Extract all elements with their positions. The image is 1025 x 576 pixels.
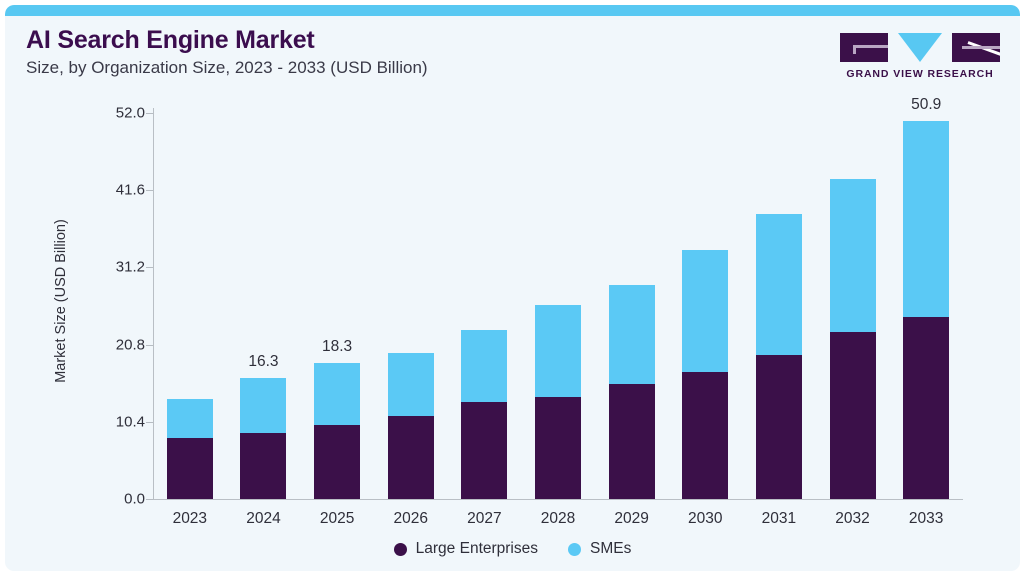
bar-segment-large-enterprises[interactable] (461, 402, 507, 499)
x-axis-tick-label: 2026 (393, 510, 427, 528)
legend-swatch-icon (394, 543, 407, 556)
legend-item[interactable]: Large Enterprises (394, 540, 538, 558)
bar-segment-smes[interactable] (388, 353, 434, 416)
bar-group[interactable] (388, 353, 434, 499)
y-axis-tick-mark (146, 422, 153, 423)
bar-group[interactable] (609, 285, 655, 499)
bar-segment-large-enterprises[interactable] (682, 372, 728, 499)
bar-group[interactable] (756, 214, 802, 499)
bar-segment-large-enterprises[interactable] (314, 425, 360, 499)
bar-segment-smes[interactable] (830, 179, 876, 332)
legend-item[interactable]: SMEs (568, 540, 631, 558)
x-axis-tick-label: 2028 (541, 510, 575, 528)
bars-container: 202316.3202418.3202520262027202820292030… (153, 5, 963, 571)
bar-segment-large-enterprises[interactable] (903, 317, 949, 499)
bar-group[interactable] (461, 330, 507, 499)
bar-segment-smes[interactable] (314, 363, 360, 425)
bar-group[interactable] (682, 250, 728, 499)
x-axis-tick-label: 2032 (835, 510, 869, 528)
x-axis-tick-label: 2024 (246, 510, 280, 528)
bar-segment-large-enterprises[interactable] (756, 355, 802, 499)
bar-group[interactable]: 16.3 (240, 378, 286, 499)
y-axis-tick-mark (146, 267, 153, 268)
bar-segment-smes[interactable] (682, 250, 728, 372)
plot-area: Market Size (USD Billion) 0.010.420.831.… (5, 5, 1020, 571)
y-axis-ticks: 0.010.420.831.241.652.0 (73, 5, 145, 571)
bar-group[interactable] (535, 305, 581, 499)
bar-segment-large-enterprises[interactable] (388, 416, 434, 499)
bar-segment-smes[interactable] (609, 285, 655, 384)
chart-legend: Large EnterprisesSMEs (5, 540, 1020, 558)
y-axis-tick-label: 31.2 (116, 259, 145, 276)
bar-segment-smes[interactable] (535, 305, 581, 396)
legend-label: SMEs (590, 540, 631, 558)
y-axis-tick-mark (146, 345, 153, 346)
y-axis-tick-mark (146, 190, 153, 191)
y-axis-tick-label: 0.0 (124, 491, 145, 508)
y-axis-tick-label: 10.4 (116, 413, 145, 430)
y-axis-tick-mark (146, 499, 153, 500)
x-axis-tick-label: 2027 (467, 510, 501, 528)
bar-group[interactable] (830, 179, 876, 499)
x-axis-tick-label: 2023 (173, 510, 207, 528)
bar-segment-large-enterprises[interactable] (535, 397, 581, 499)
bar-segment-smes[interactable] (903, 121, 949, 317)
y-axis-tick-label: 52.0 (116, 105, 145, 122)
x-axis-tick-label: 2030 (688, 510, 722, 528)
x-axis-tick-label: 2031 (762, 510, 796, 528)
bar-segment-large-enterprises[interactable] (167, 438, 213, 499)
bar-segment-smes[interactable] (167, 399, 213, 438)
legend-swatch-icon (568, 543, 581, 556)
bar-group[interactable]: 50.9 (903, 121, 949, 499)
y-axis-tick-label: 41.6 (116, 182, 145, 199)
bar-segment-smes[interactable] (240, 378, 286, 433)
bar-value-label: 18.3 (322, 338, 352, 356)
bar-value-label: 16.3 (248, 353, 278, 371)
chart-card: AI Search Engine Market Size, by Organiz… (5, 5, 1020, 571)
bar-segment-smes[interactable] (756, 214, 802, 355)
bar-segment-smes[interactable] (461, 330, 507, 402)
x-axis-tick-label: 2025 (320, 510, 354, 528)
y-axis-label: Market Size (USD Billion) (53, 219, 69, 383)
bar-segment-large-enterprises[interactable] (830, 332, 876, 499)
legend-label: Large Enterprises (416, 540, 538, 558)
bar-segment-large-enterprises[interactable] (240, 433, 286, 499)
y-axis-tick-label: 20.8 (116, 336, 145, 353)
bar-group[interactable] (167, 399, 213, 499)
bar-group[interactable]: 18.3 (314, 363, 360, 499)
x-axis-tick-label: 2033 (909, 510, 943, 528)
y-axis-tick-mark (146, 113, 153, 114)
bar-segment-large-enterprises[interactable] (609, 384, 655, 499)
x-axis-tick-label: 2029 (614, 510, 648, 528)
bar-value-label: 50.9 (911, 96, 941, 114)
